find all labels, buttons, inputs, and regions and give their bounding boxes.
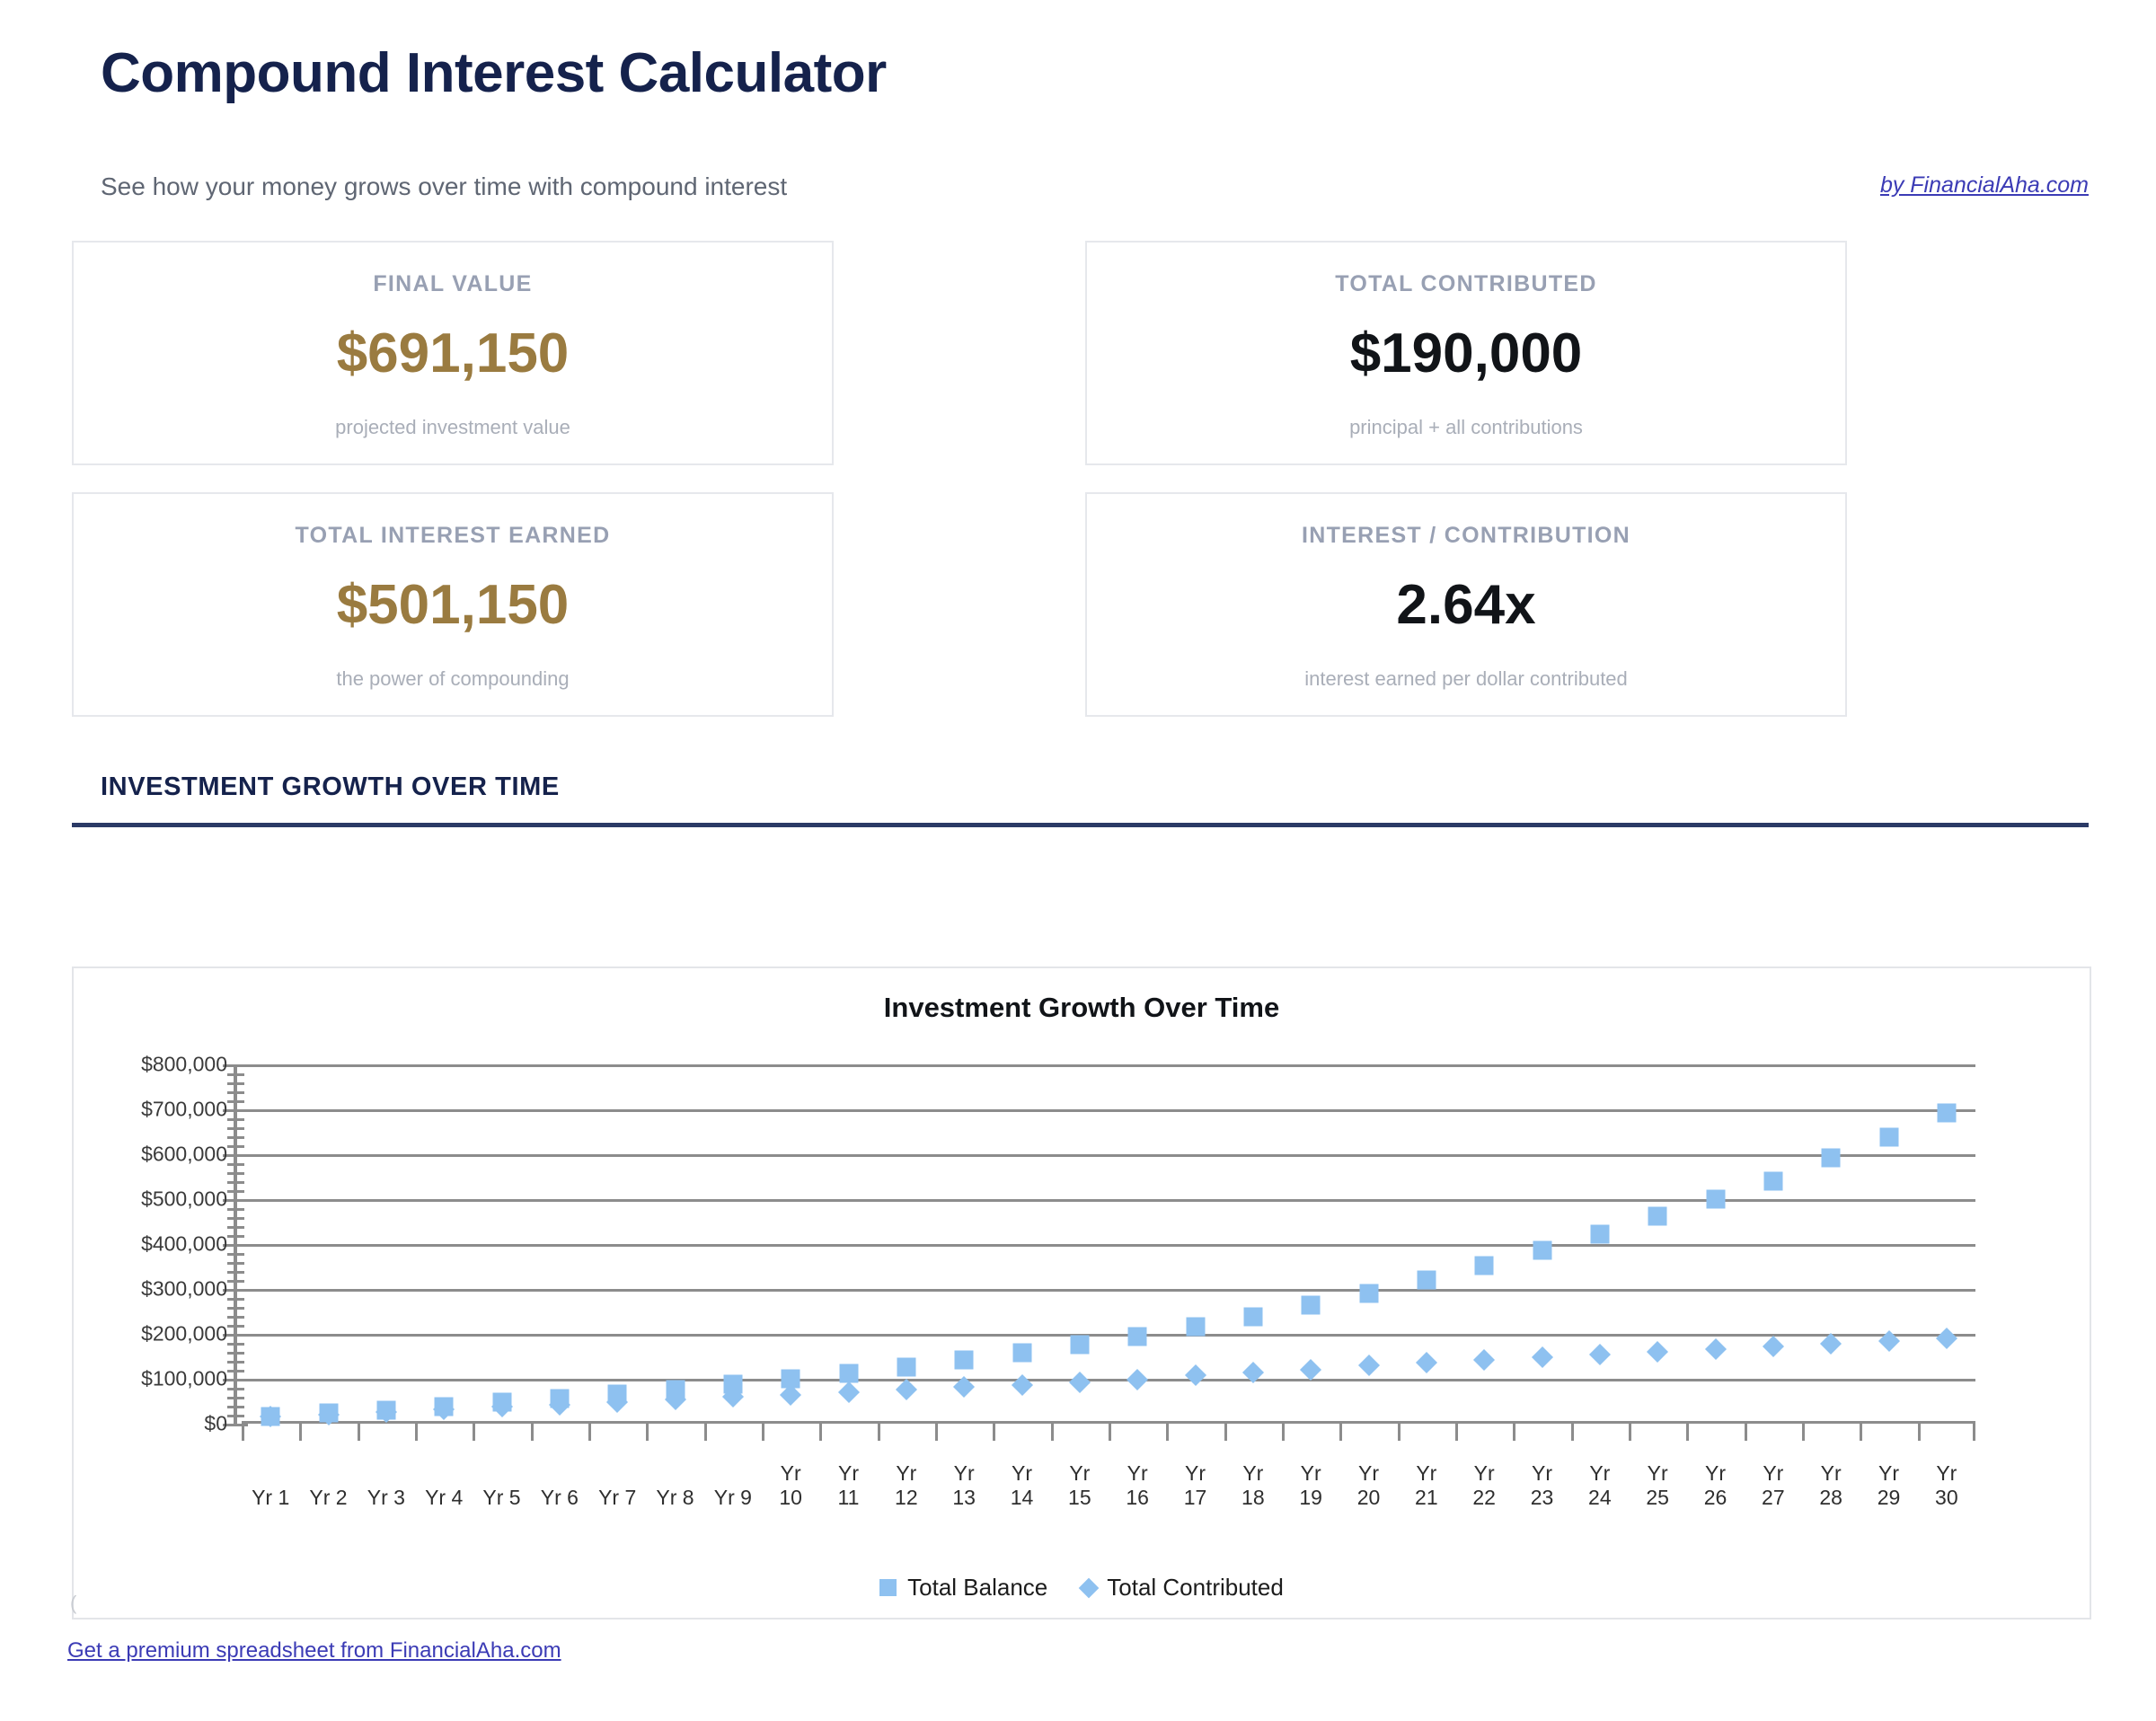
premium-spreadsheet-link[interactable]: Get a premium spreadsheet from Financial… xyxy=(67,1638,561,1664)
stray-glyph: ( xyxy=(70,1592,76,1615)
chart-data-point xyxy=(1416,1352,1437,1373)
chart-data-point xyxy=(1128,1327,1147,1346)
chart-data-point xyxy=(1473,1349,1495,1371)
y-axis-minor-tick xyxy=(227,1163,244,1166)
x-axis-tick-label: Yr20 xyxy=(1340,1461,1398,1510)
stat-card-final-value: FINAL VALUE $691,150 projected investmen… xyxy=(72,241,834,465)
y-axis-minor-tick xyxy=(227,1406,244,1408)
y-axis-minor-tick xyxy=(227,1271,244,1274)
y-axis-minor-tick xyxy=(227,1280,244,1283)
chart-data-point xyxy=(1533,1241,1551,1260)
x-axis-tick xyxy=(1339,1424,1342,1441)
stat-card-value: $691,150 xyxy=(337,326,570,382)
growth-chart-container: Investment Growth Over Time $0$100,000$2… xyxy=(72,966,2091,1620)
legend-label: Total Balance xyxy=(907,1574,1047,1602)
x-axis-tick-label: Yr30 xyxy=(1918,1461,1975,1510)
y-axis-minor-tick xyxy=(227,1235,244,1238)
x-axis-tick-label: Yr10 xyxy=(762,1461,819,1510)
stat-card-total-interest-earned: TOTAL INTEREST EARNED $501,150 the power… xyxy=(72,492,834,717)
y-axis-minor-tick xyxy=(227,1352,244,1355)
chart-data-point xyxy=(1302,1296,1321,1315)
x-axis-tick xyxy=(993,1424,995,1441)
y-axis-tick-label: $400,000 xyxy=(141,1232,227,1257)
chart-data-point xyxy=(1763,1335,1784,1356)
x-axis-tick xyxy=(1051,1424,1054,1441)
square-marker-icon xyxy=(879,1579,897,1596)
y-axis-minor-tick xyxy=(227,1262,244,1265)
x-axis-tick-label: Yr 9 xyxy=(704,1486,762,1510)
diamond-marker-icon xyxy=(1079,1577,1100,1598)
y-axis-tick-label: $800,000 xyxy=(141,1053,227,1077)
x-axis-tick xyxy=(935,1424,938,1441)
x-axis-tick-label: Yr 7 xyxy=(588,1486,646,1510)
y-axis-minor-tick xyxy=(227,1388,244,1390)
y-axis-minor-tick xyxy=(227,1217,244,1220)
x-axis-tick xyxy=(1109,1424,1111,1441)
x-axis-tick xyxy=(646,1424,649,1441)
chart-data-point xyxy=(1706,1190,1725,1209)
y-axis-tick-label: $500,000 xyxy=(141,1187,227,1212)
x-axis-tick-label: Yr14 xyxy=(994,1461,1051,1510)
chart-data-point xyxy=(1069,1372,1091,1393)
chart-data-point xyxy=(1531,1346,1552,1367)
x-axis-tick-label: Yr19 xyxy=(1282,1461,1339,1510)
chart-data-point xyxy=(837,1381,859,1403)
x-axis-tick-label: Yr15 xyxy=(1051,1461,1109,1510)
y-axis-minor-tick xyxy=(227,1190,244,1193)
x-axis-tick-label: Yr 6 xyxy=(531,1486,588,1510)
chart-gridline xyxy=(242,1379,1975,1381)
chart-data-point xyxy=(1589,1343,1611,1364)
chart-gridline xyxy=(242,1289,1975,1292)
legend-label: Total Contributed xyxy=(1107,1574,1284,1602)
chart-data-point xyxy=(1647,1340,1668,1362)
x-axis-tick-label: Yr 2 xyxy=(300,1486,358,1510)
stat-card-sublabel: interest earned per dollar contributed xyxy=(1304,667,1628,691)
x-axis-tick xyxy=(1802,1424,1805,1441)
x-axis-tick-label: Yr11 xyxy=(820,1461,878,1510)
y-axis-tick-label: $100,000 xyxy=(141,1367,227,1391)
chart-data-point xyxy=(1879,1127,1898,1146)
x-axis-tick-label: Yr 8 xyxy=(647,1486,704,1510)
x-axis-tick xyxy=(1745,1424,1747,1441)
x-axis-tick xyxy=(1686,1424,1689,1441)
x-axis-tick-label: Yr 5 xyxy=(473,1486,531,1510)
chart-data-point xyxy=(1357,1355,1379,1376)
x-axis-tick xyxy=(1860,1424,1862,1441)
x-axis-tick-label: Yr 1 xyxy=(242,1486,299,1510)
chart-data-point xyxy=(1590,1224,1609,1243)
y-axis-minor-tick xyxy=(227,1100,244,1103)
stat-card-label: INTEREST / CONTRIBUTION xyxy=(1302,523,1630,549)
chart-title: Investment Growth Over Time xyxy=(74,992,2090,1024)
chart-data-point xyxy=(896,1379,917,1400)
y-axis-minor-tick xyxy=(227,1145,244,1148)
chart-data-point xyxy=(1186,1318,1205,1337)
stat-card-sublabel: the power of compounding xyxy=(336,667,569,691)
x-axis-tick-label: Yr22 xyxy=(1455,1461,1513,1510)
x-axis-tick xyxy=(531,1424,534,1441)
y-axis-minor-tick xyxy=(227,1397,244,1399)
y-axis-minor-tick xyxy=(227,1136,244,1139)
x-axis-tick xyxy=(1918,1424,1921,1441)
legend-item-total-contributed: Total Contributed xyxy=(1082,1574,1284,1602)
stat-card-label: FINAL VALUE xyxy=(373,271,532,297)
y-axis-minor-tick xyxy=(227,1298,244,1301)
y-axis-minor-tick xyxy=(227,1127,244,1130)
stat-card-interest-per-contribution: INTEREST / CONTRIBUTION 2.64x interest e… xyxy=(1085,492,1847,717)
x-axis-tick-label: Yr12 xyxy=(878,1461,935,1510)
chart-gridline xyxy=(242,1244,1975,1247)
x-axis-tick-label: Yr23 xyxy=(1514,1461,1571,1510)
y-axis-minor-tick xyxy=(227,1361,244,1364)
chart-data-point xyxy=(839,1364,858,1382)
y-axis-minor-tick xyxy=(227,1208,244,1211)
x-axis-tick xyxy=(762,1424,764,1441)
legend-item-total-balance: Total Balance xyxy=(879,1574,1047,1602)
chart-gridline xyxy=(242,1334,1975,1337)
x-axis-tick xyxy=(819,1424,822,1441)
y-axis-minor-tick xyxy=(227,1082,244,1085)
x-axis-tick xyxy=(704,1424,707,1441)
chart-data-point xyxy=(1184,1364,1206,1386)
x-axis-tick-label: Yr25 xyxy=(1629,1461,1686,1510)
stat-card-total-contributed: TOTAL CONTRIBUTED $190,000 principal + a… xyxy=(1085,241,1847,465)
chart-data-point xyxy=(1763,1172,1782,1191)
stat-card-sublabel: projected investment value xyxy=(335,416,570,439)
x-axis-tick-label: Yr16 xyxy=(1109,1461,1166,1510)
x-axis-tick xyxy=(1398,1424,1401,1441)
x-axis-tick-label: Yr13 xyxy=(935,1461,993,1510)
x-axis-tick xyxy=(473,1424,475,1441)
y-axis-minor-tick xyxy=(227,1172,244,1175)
section-heading: INVESTMENT GROWTH OVER TIME xyxy=(101,772,560,802)
chart-data-point xyxy=(1936,1328,1957,1349)
chart-data-point xyxy=(1243,1307,1262,1326)
chart-data-point xyxy=(1822,1149,1841,1168)
x-axis-tick xyxy=(1455,1424,1458,1441)
y-axis-minor-tick xyxy=(227,1343,244,1346)
chart-data-point xyxy=(1937,1104,1956,1123)
x-axis-tick xyxy=(1629,1424,1631,1441)
chart-data-point xyxy=(1417,1271,1436,1290)
x-axis-tick xyxy=(1282,1424,1285,1441)
x-axis-tick-label: Yr18 xyxy=(1224,1461,1282,1510)
y-axis-tick-label: $200,000 xyxy=(141,1322,227,1346)
chart-data-point xyxy=(1648,1206,1667,1225)
chart-data-point xyxy=(1127,1369,1148,1390)
stat-card-value: $190,000 xyxy=(1350,326,1583,382)
chart-data-point xyxy=(1475,1257,1494,1275)
stat-card-label: TOTAL INTEREST EARNED xyxy=(296,523,611,549)
y-axis-minor-tick xyxy=(227,1226,244,1229)
x-axis-tick-label: Yr17 xyxy=(1167,1461,1224,1510)
y-axis-minor-tick xyxy=(227,1118,244,1121)
x-axis-tick xyxy=(299,1424,302,1441)
x-axis-tick xyxy=(1973,1424,1975,1441)
y-axis-minor-tick xyxy=(227,1307,244,1310)
y-axis-minor-tick xyxy=(227,1370,244,1372)
chart-data-point xyxy=(1012,1344,1031,1363)
chart-gridline xyxy=(242,1154,1975,1157)
stat-card-label: TOTAL CONTRIBUTED xyxy=(1335,271,1597,297)
y-axis-minor-tick xyxy=(227,1181,244,1184)
y-axis-minor-tick xyxy=(227,1073,244,1076)
x-axis-tick-label: Yr21 xyxy=(1398,1461,1455,1510)
x-axis-tick-label: Yr 4 xyxy=(415,1486,473,1510)
section-divider xyxy=(72,823,2089,827)
x-axis-tick-label: Yr29 xyxy=(1860,1461,1918,1510)
chart-gridline xyxy=(242,1064,1975,1067)
y-axis-minor-tick xyxy=(227,1253,244,1256)
chart-data-point xyxy=(1300,1358,1321,1380)
y-axis-minor-tick xyxy=(227,1415,244,1417)
y-axis-tick-label: $0 xyxy=(204,1412,227,1436)
page-root: Compound Interest Calculator See how you… xyxy=(0,0,2156,1721)
x-axis-tick xyxy=(1166,1424,1169,1441)
x-axis-tick-label: Yr26 xyxy=(1687,1461,1745,1510)
x-axis-tick xyxy=(1224,1424,1227,1441)
stat-card-value: 2.64x xyxy=(1396,578,1535,633)
x-axis-tick-label: Yr27 xyxy=(1745,1461,1802,1510)
x-axis-tick xyxy=(242,1424,244,1441)
x-axis-tick xyxy=(588,1424,591,1441)
stat-card-value: $501,150 xyxy=(337,578,570,633)
y-axis-tick-label: $700,000 xyxy=(141,1098,227,1122)
chart-data-point xyxy=(1359,1284,1378,1302)
chart-data-point xyxy=(897,1357,915,1376)
y-axis-tick-label: $600,000 xyxy=(141,1143,227,1167)
chart-data-point xyxy=(1011,1373,1032,1395)
chart-legend: Total Balance Total Contributed xyxy=(74,1574,2090,1602)
x-axis-tick xyxy=(358,1424,360,1441)
chart-plot-area: $0$100,000$200,000$300,000$400,000$500,0… xyxy=(242,1064,1975,1424)
y-axis-minor-tick xyxy=(227,1091,244,1094)
chart-gridline xyxy=(242,1109,1975,1112)
chart-data-point xyxy=(955,1351,974,1370)
chart-data-point xyxy=(1704,1337,1726,1359)
y-axis-tick-label: $300,000 xyxy=(141,1277,227,1302)
chart-data-point xyxy=(1070,1336,1089,1355)
x-axis-tick xyxy=(415,1424,418,1441)
x-axis-tick-label: Yr28 xyxy=(1802,1461,1860,1510)
x-axis-tick-label: Yr 3 xyxy=(358,1486,415,1510)
y-axis-minor-tick xyxy=(227,1316,244,1319)
y-axis-minor-tick xyxy=(227,1325,244,1328)
x-axis-tick xyxy=(1571,1424,1574,1441)
x-axis-tick xyxy=(878,1424,880,1441)
stat-card-sublabel: principal + all contributions xyxy=(1349,416,1583,439)
x-axis-tick-label: Yr24 xyxy=(1571,1461,1629,1510)
x-axis-tick xyxy=(1513,1424,1515,1441)
